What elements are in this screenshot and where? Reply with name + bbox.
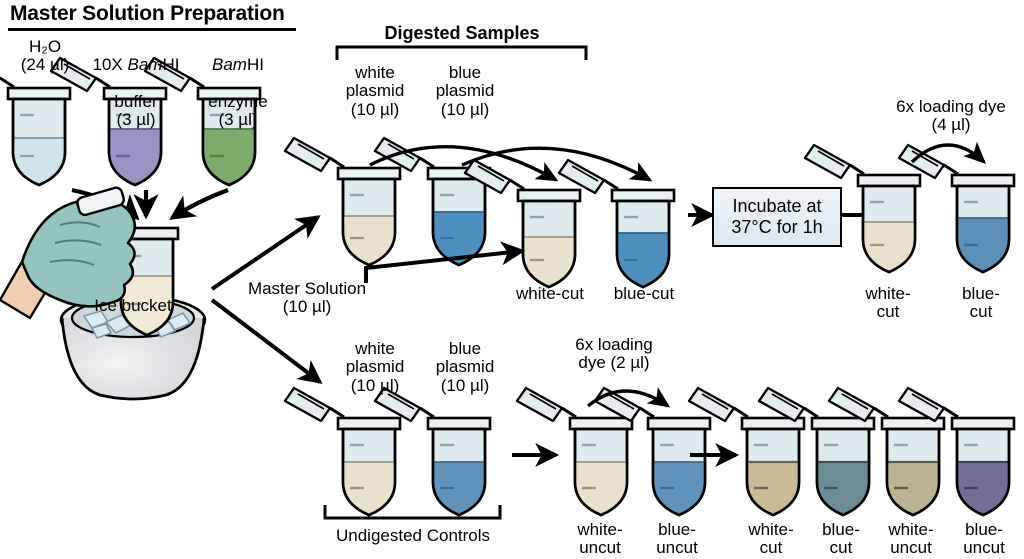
title-underline [8,28,296,31]
tube-blue-plasmid-digested [375,138,490,265]
label-digested-samples: Digested Samples [372,24,552,43]
label-white-plasmid-uncut: white plasmid (10 µl) [331,340,419,395]
tube-final-blue-cut [759,388,874,515]
label-final-blue-cut: blue- cut [803,521,879,558]
label-final-white-uncut: white- uncut [869,521,953,558]
label-bamhi-enzyme: BamHI enzyme(3 µl) [190,38,286,130]
tube-white-plasmid-uncut [285,388,400,515]
tube-white-plasmid-digested [285,138,400,265]
bracket-undigested-controls [325,505,500,518]
tube-blue-plasmid-uncut [375,388,490,515]
tube-final-white-cut [689,388,804,515]
label-white-plasmid-digested: white plasmid (10 µl) [331,64,419,119]
label-white-cut: white-cut [500,285,600,303]
arrow-loading-dye-top [912,145,984,162]
label-blue-cut-dyed: blue- cut [940,285,1022,322]
tube-h2o [0,58,70,185]
tube-white-uncut [517,388,632,515]
tube-white-cut [465,160,580,287]
label-blue-plasmid-uncut: blue plasmid (10 µl) [421,340,509,395]
label-loading-dye-top: 6x loading dye (4 µl) [878,98,1024,135]
tube-blue-cut [559,160,674,287]
tube-blue-cut-dyed [899,145,1014,272]
label-blue-plasmid-digested: blue plasmid (10 µl) [421,64,509,119]
arrow-loading-dye-bottom [588,391,668,406]
label-ice-bucket: Ice bucket [68,297,198,315]
label-white-cut-dyed: white- cut [843,285,933,322]
label-master-solution: Master Solution (10 µl) [222,280,392,317]
arrow-master-into-digested [366,251,522,283]
label-final-white-cut: white- cut [731,521,811,558]
label-bamhi-buffer: 10X BamHI buffer(3 µl) [84,38,188,130]
arrow-plasmid-transfers [370,147,650,180]
label-undigested-controls: Undigested Controls [328,527,498,545]
protocol-diagram: Master Solution Preparation [0,0,1024,559]
label-loading-dye-bottom: 6x loading dye (2 µl) [544,336,684,373]
arrow-reagents-to-master [72,190,228,218]
tube-final-blue-uncut [899,388,1014,515]
incubate-box: Incubate at 37°C for 1h [712,187,842,247]
tube-blue-uncut [595,388,710,515]
label-blue-cut: blue-cut [598,285,690,303]
label-white-uncut: white- uncut [556,521,644,558]
tube-final-white-uncut [829,388,944,515]
label-blue-uncut: blue- uncut [637,521,717,558]
tube-master-solution [116,228,178,335]
bracket-digested-samples [337,47,586,60]
label-h2o: H₂O(24 µl) [0,38,90,75]
page-title: Master Solution Preparation [10,2,285,26]
label-final-blue-uncut: blue- uncut [944,521,1024,558]
